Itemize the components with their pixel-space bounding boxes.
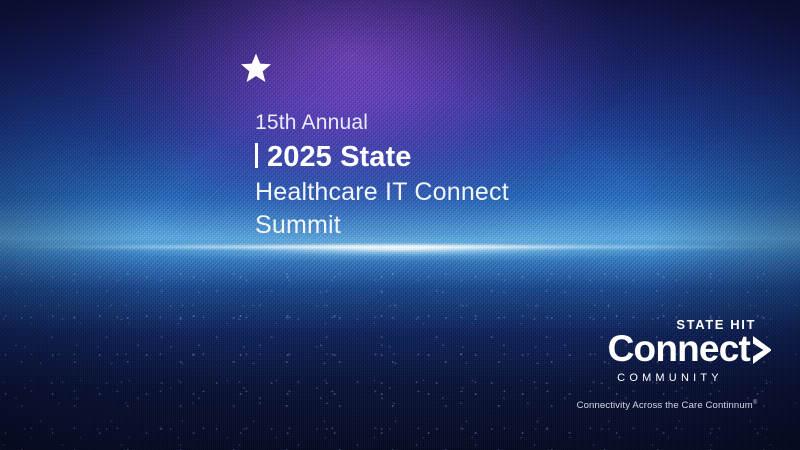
page-title: 15th Annual 2025 State Healthcare IT Con… bbox=[255, 108, 509, 242]
title-accent-rule bbox=[255, 143, 258, 168]
chevron-right-icon bbox=[752, 336, 772, 364]
headline-subtitle-line-2: Summit bbox=[255, 209, 509, 242]
headline-title-row: 2025 State bbox=[255, 138, 509, 176]
logo-tagline: Connectivity Across the Care Continnum® bbox=[562, 397, 772, 412]
registered-mark: ® bbox=[753, 400, 758, 406]
headline-eyebrow: 15th Annual bbox=[255, 108, 509, 138]
headline-subtitle-line-1: Healthcare IT Connect bbox=[255, 176, 509, 209]
logo-wordmark-text: Connect bbox=[608, 329, 750, 369]
slide-content: 15th Annual 2025 State Healthcare IT Con… bbox=[0, 0, 800, 450]
logo-tagline-text: Connectivity Across the Care Continnum bbox=[577, 400, 753, 411]
presentation-slide: 15th Annual 2025 State Healthcare IT Con… bbox=[0, 0, 800, 450]
star-icon bbox=[240, 52, 272, 84]
logo-subtitle-text: COMMUNITY bbox=[562, 371, 772, 385]
headline-title: 2025 State bbox=[267, 138, 412, 176]
brand-logo: STATE HIT Connect COMMUNITY Connectivity… bbox=[562, 318, 772, 412]
logo-wordmark-row: Connect bbox=[562, 329, 772, 369]
